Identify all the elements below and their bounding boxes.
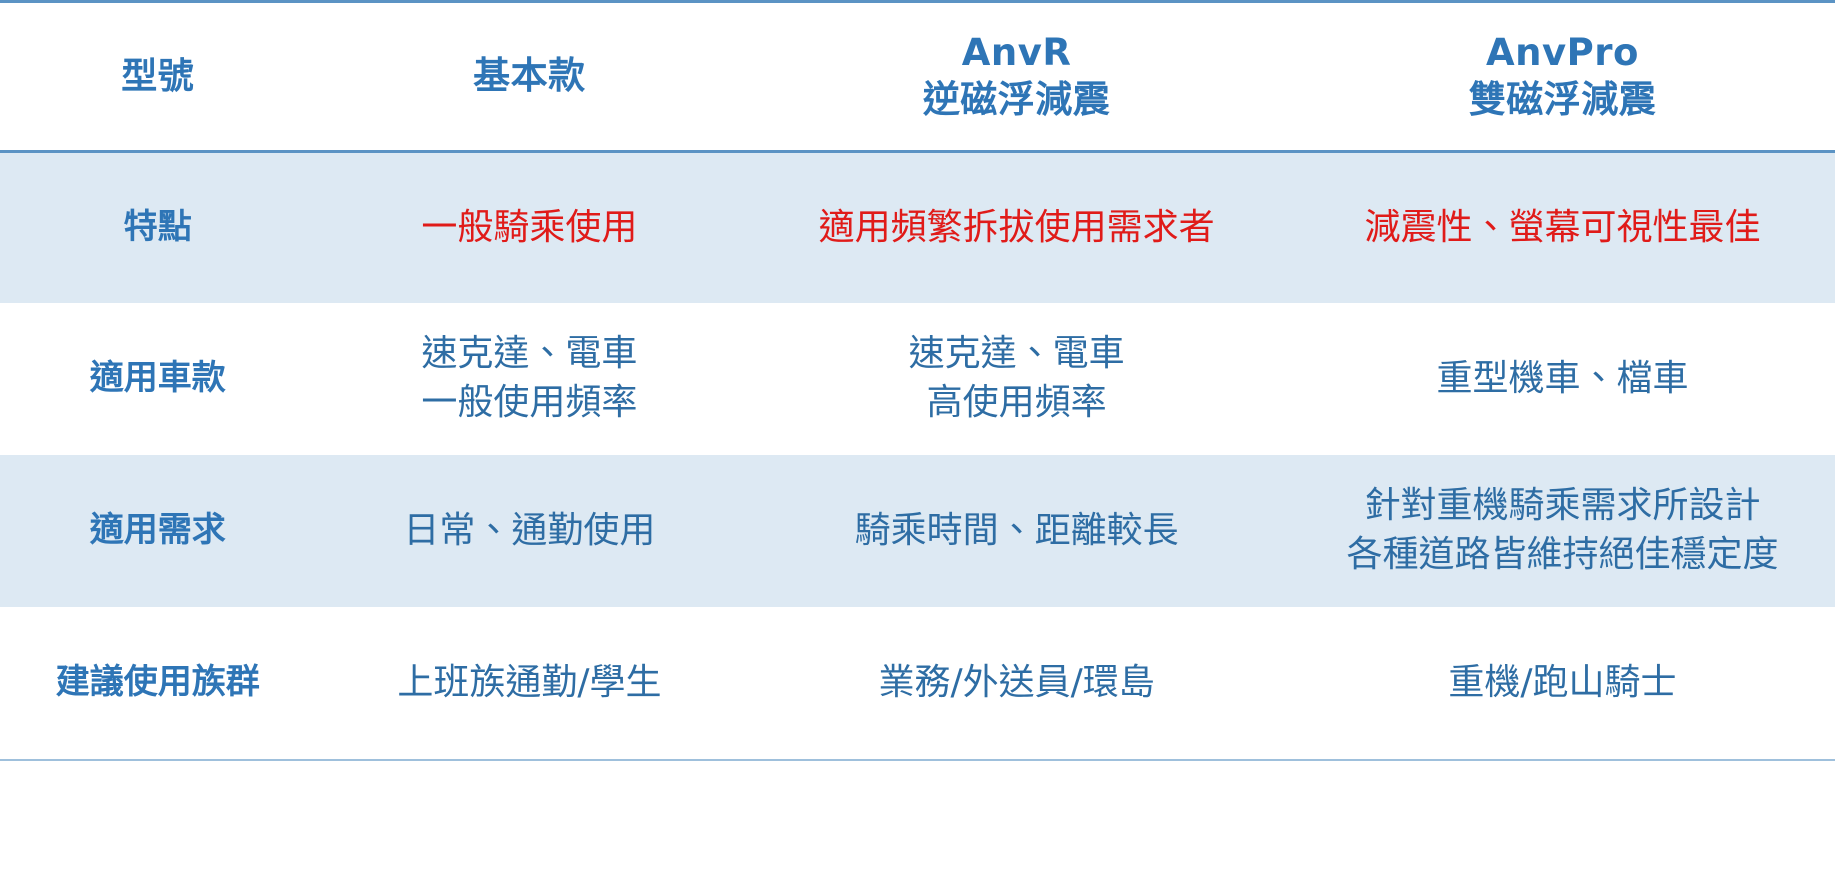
cell-feature-anvr: 適用頻繁拆拔使用需求者 xyxy=(743,153,1290,303)
cell-vehicle-basic: 速克達、電車 一般使用頻率 xyxy=(316,303,744,455)
row-label-vehicle: 適用車款 xyxy=(0,303,316,455)
row-label-group: 建議使用族群 xyxy=(0,607,316,759)
table-row-group: 建議使用族群 上班族通勤/學生 業務/外送員/環島 重機/跑山騎士 xyxy=(0,607,1835,759)
cell-need-anvr: 騎乘時間、距離較長 xyxy=(743,455,1290,607)
header-label-anvpro: AnvPro xyxy=(1290,30,1835,77)
spec-table: 型號 基本款 AnvR 逆磁浮減震 AnvPro 雙磁浮減震 xyxy=(0,3,1835,150)
cell-text-line1: 重型機車、檔車 xyxy=(1298,355,1827,404)
cell-text-line1: 針對重機騎乘需求所設計 xyxy=(1298,482,1827,531)
header-label-basic: 基本款 xyxy=(316,53,744,100)
header-sublabel-anvpro: 雙磁浮減震 xyxy=(1290,77,1835,124)
header-sublabel-anvr: 逆磁浮減震 xyxy=(743,77,1290,124)
cell-group-basic: 上班族通勤/學生 xyxy=(316,607,744,759)
spec-table-body: 特點 一般騎乘使用 適用頻繁拆拔使用需求者 減震性、螢幕可視性最佳 適用車款 速… xyxy=(0,153,1835,759)
row-label-need: 適用需求 xyxy=(0,455,316,607)
header-label-anvr: AnvR xyxy=(743,30,1290,77)
table-bottom-divider xyxy=(0,759,1835,761)
cell-text-line1: 速克達、電車 xyxy=(751,330,1282,379)
cell-text-line1: 業務/外送員/環島 xyxy=(751,659,1282,708)
header-label-model: 型號 xyxy=(0,54,316,99)
cell-text-line1: 適用頻繁拆拔使用需求者 xyxy=(751,204,1282,253)
cell-vehicle-anvr: 速克達、電車 高使用頻率 xyxy=(743,303,1290,455)
cell-text-line1: 重機/跑山騎士 xyxy=(1298,659,1827,708)
table-row-feature: 特點 一般騎乘使用 適用頻繁拆拔使用需求者 減震性、螢幕可視性最佳 xyxy=(0,153,1835,303)
header-cell-basic: 基本款 xyxy=(316,3,744,150)
header-cell-model: 型號 xyxy=(0,3,316,150)
table-header: 型號 基本款 AnvR 逆磁浮減震 AnvPro 雙磁浮減震 xyxy=(0,3,1835,150)
cell-text-line1: 騎乘時間、距離較長 xyxy=(751,507,1282,556)
row-label-feature: 特點 xyxy=(0,153,316,303)
cell-vehicle-anvpro: 重型機車、檔車 xyxy=(1290,303,1835,455)
cell-text-line1: 減震性、螢幕可視性最佳 xyxy=(1298,204,1827,253)
cell-feature-basic: 一般騎乘使用 xyxy=(316,153,744,303)
cell-group-anvpro: 重機/跑山騎士 xyxy=(1290,607,1835,759)
header-cell-anvpro: AnvPro 雙磁浮減震 xyxy=(1290,3,1835,150)
cell-text-line1: 上班族通勤/學生 xyxy=(324,659,736,708)
cell-text-line1: 速克達、電車 xyxy=(324,330,736,379)
product-comparison-table: 型號 基本款 AnvR 逆磁浮減震 AnvPro 雙磁浮減震 xyxy=(0,0,1835,896)
cell-group-anvr: 業務/外送員/環島 xyxy=(743,607,1290,759)
cell-text-line2: 一般使用頻率 xyxy=(324,379,736,428)
cell-text-line1: 日常、通勤使用 xyxy=(324,507,736,556)
cell-feature-anvpro: 減震性、螢幕可視性最佳 xyxy=(1290,153,1835,303)
header-row: 型號 基本款 AnvR 逆磁浮減震 AnvPro 雙磁浮減震 xyxy=(0,3,1835,150)
cell-need-anvpro: 針對重機騎乘需求所設計 各種道路皆維持絕佳穩定度 xyxy=(1290,455,1835,607)
table-row-vehicle: 適用車款 速克達、電車 一般使用頻率 速克達、電車 高使用頻率 重型機車、檔車 xyxy=(0,303,1835,455)
cell-text-line2: 高使用頻率 xyxy=(751,379,1282,428)
header-cell-anvr: AnvR 逆磁浮減震 xyxy=(743,3,1290,150)
cell-need-basic: 日常、通勤使用 xyxy=(316,455,744,607)
cell-text-line2: 各種道路皆維持絕佳穩定度 xyxy=(1298,531,1827,580)
cell-text-line1: 一般騎乘使用 xyxy=(324,204,736,253)
table-row-need: 適用需求 日常、通勤使用 騎乘時間、距離較長 針對重機騎乘需求所設計 各種道路皆… xyxy=(0,455,1835,607)
